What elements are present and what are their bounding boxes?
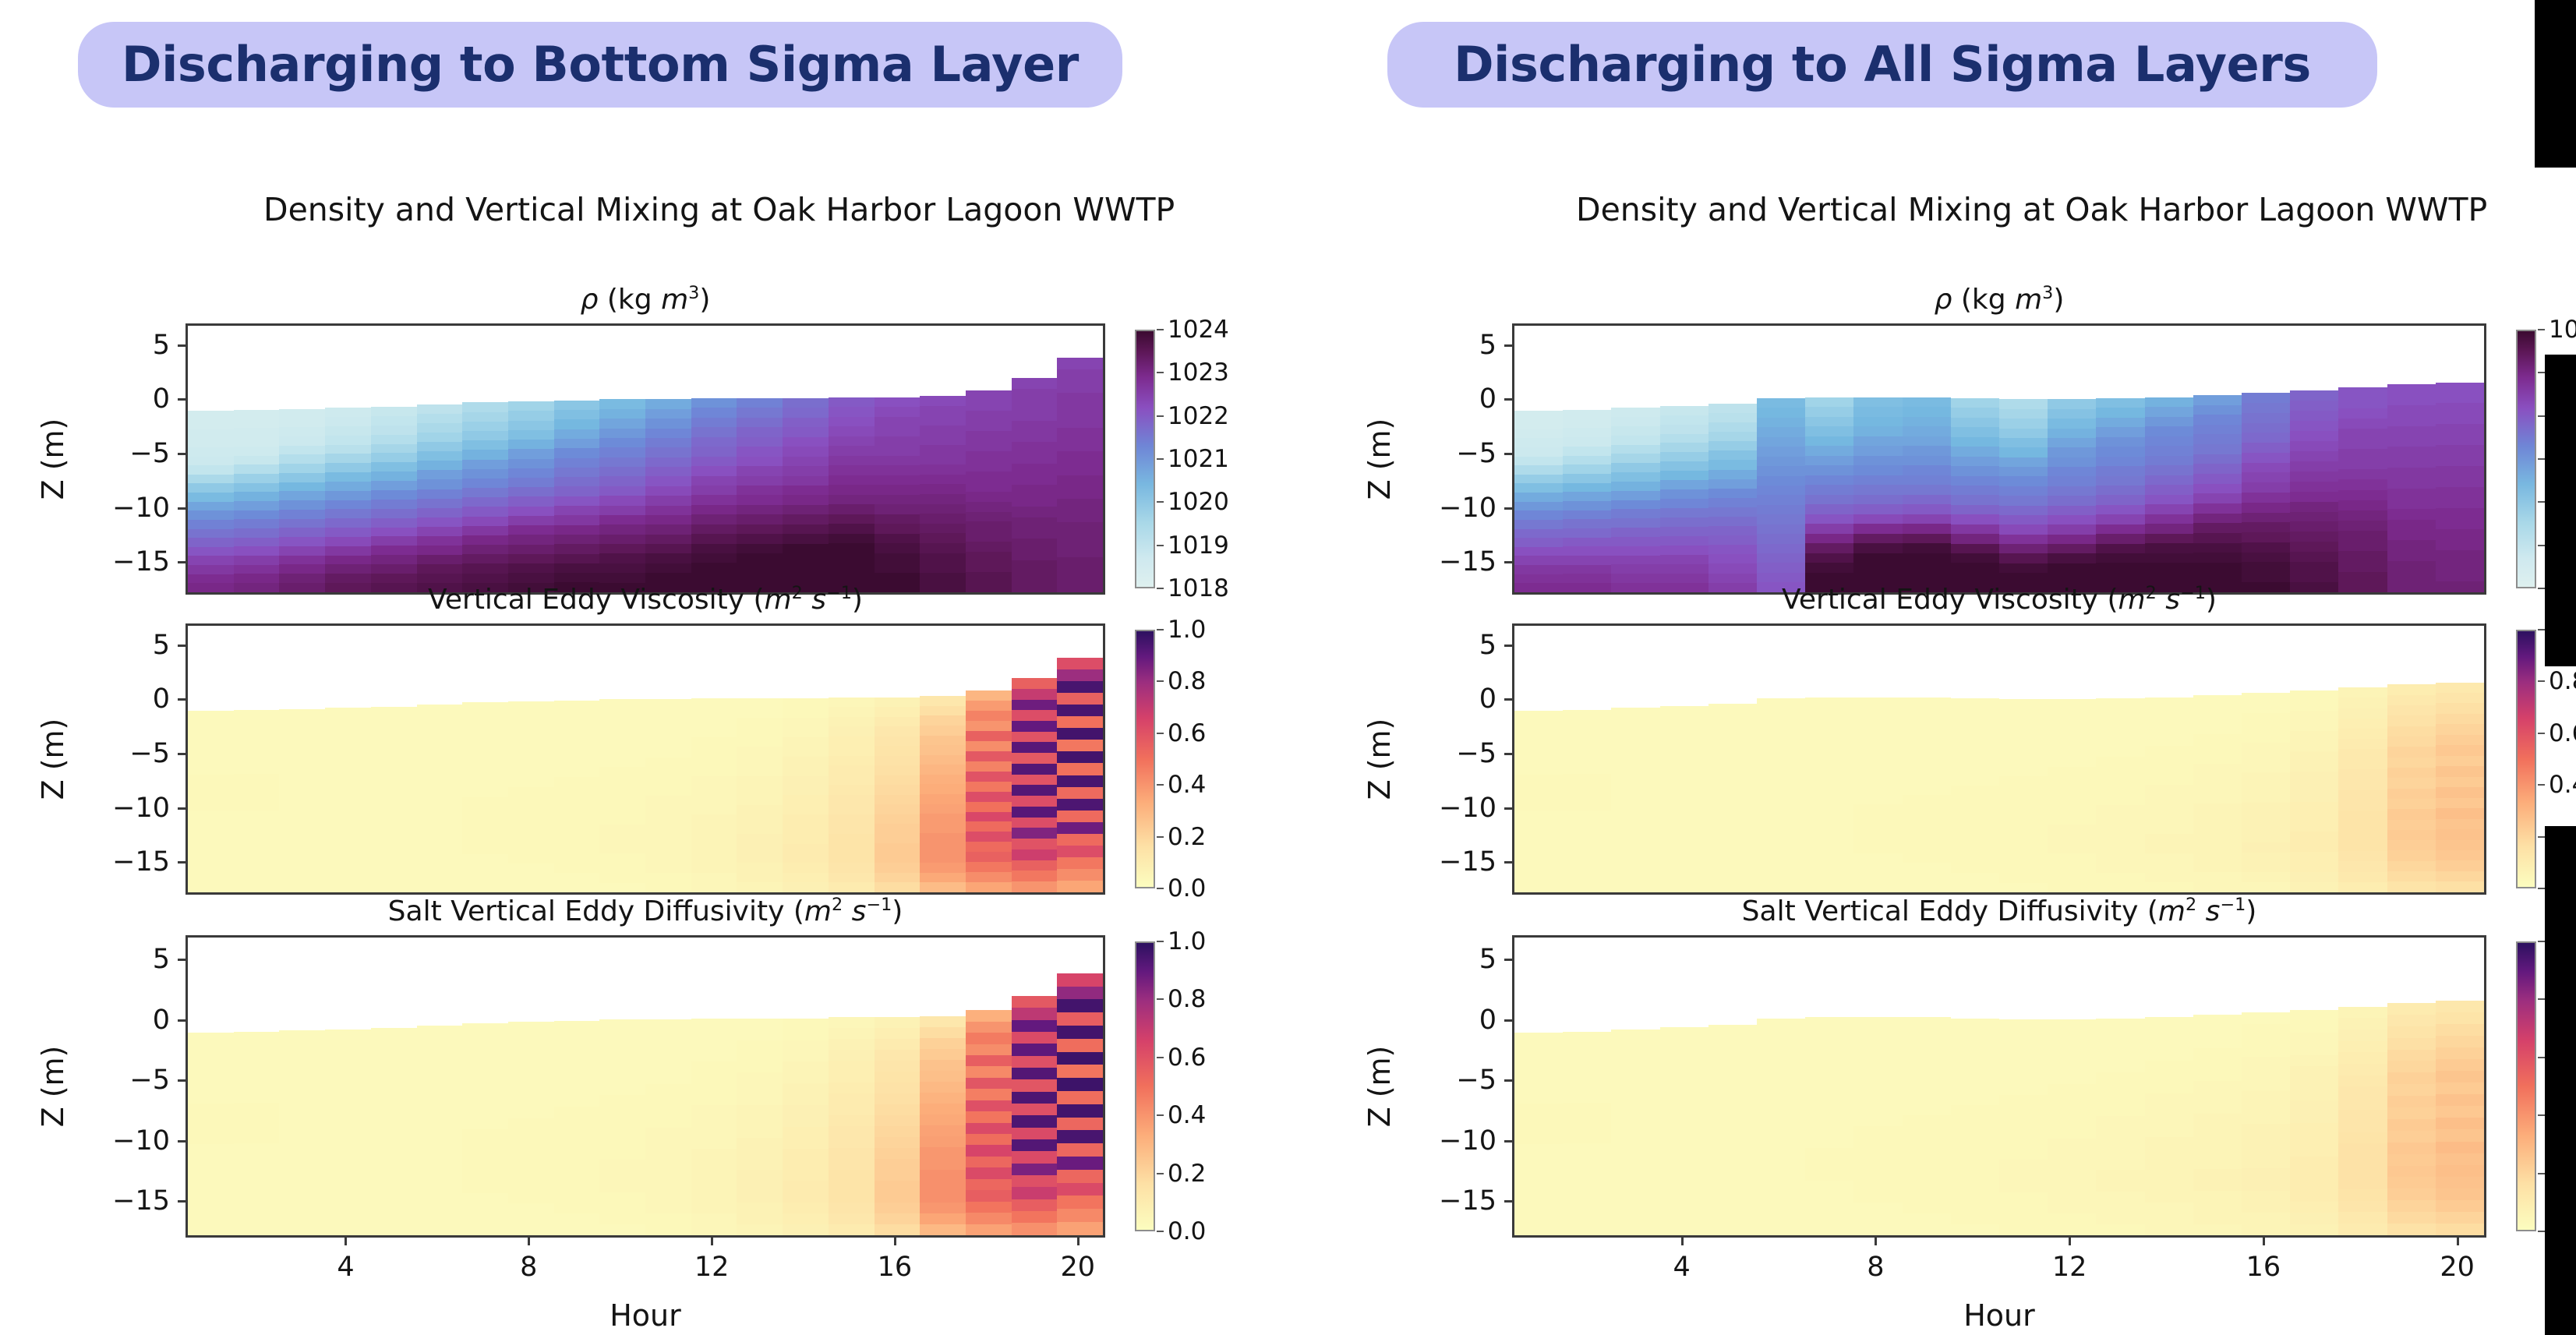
heatmap-cell [2290, 411, 2338, 421]
heatmap-cell [2145, 882, 2193, 892]
heatmap-cell [1660, 1193, 1708, 1203]
heatmap-cell [2436, 1188, 2484, 1200]
heatmap-cell [783, 1192, 829, 1203]
heatmap-cell [966, 1010, 1012, 1021]
heatmap-cell [462, 760, 508, 769]
heatmap-cell [2290, 731, 2338, 741]
heatmap-cell [1853, 1050, 1902, 1061]
heatmap-cell [875, 563, 921, 573]
heatmap-cell [2242, 793, 2290, 803]
heatmap-cell [371, 1069, 417, 1079]
heatmap-cell [188, 556, 234, 565]
heatmap-cell [2290, 492, 2338, 502]
heatmap-cell [1903, 853, 1951, 864]
heatmap-cell [1951, 718, 1999, 727]
heatmap-cell [829, 1224, 875, 1235]
heatmap-cell [2048, 486, 2096, 496]
heatmap-cell [188, 1144, 234, 1154]
heatmap-cell [1514, 574, 1563, 584]
heatmap-cell [1903, 1093, 1951, 1104]
heatmap-cell [554, 1075, 600, 1086]
heatmap-cell [1012, 378, 1058, 389]
heatmap-cell [599, 1192, 645, 1203]
heatmap-cell [1853, 707, 1902, 717]
heatmap-cell [1805, 1203, 1853, 1213]
heatmap-cell [508, 440, 554, 449]
heatmap-cell [279, 473, 325, 482]
heatmap-cell [325, 883, 371, 892]
heatmap-cell [1708, 526, 1757, 535]
heatmap-cell [737, 1127, 783, 1138]
heatmap-cell [966, 562, 1012, 572]
heatmap-column [2193, 626, 2242, 892]
heatmap-cell [920, 873, 966, 883]
heatmap-cell [462, 807, 508, 816]
heatmap-cell [1057, 510, 1103, 522]
heatmap-cell [1611, 408, 1659, 417]
heatmap-cell [462, 1161, 508, 1172]
y-tick-label: 5 [1395, 630, 1496, 661]
heatmap-column [2290, 626, 2338, 892]
heatmap-cell [371, 1059, 417, 1069]
heatmap-cell [1853, 446, 1902, 456]
heatmap-cell [2048, 835, 2096, 844]
heatmap-cell [2096, 1094, 2144, 1105]
heatmap-cell [2145, 824, 2193, 834]
heatmap-cell [737, 882, 783, 892]
y-tick-label: 0 [1395, 383, 1496, 415]
heatmap-cell [2096, 544, 2144, 553]
heatmap-cell [2436, 724, 2484, 734]
heatmap-cell [966, 772, 1012, 782]
colorbar-mixing [2516, 630, 2536, 888]
heatmap-cell [737, 1105, 783, 1116]
x-tick-mark [528, 1238, 530, 1245]
heatmap-cell [417, 423, 463, 433]
heatmap-cell [2048, 1019, 2096, 1030]
heatmap-cell [554, 825, 600, 835]
heatmap-cell [462, 1193, 508, 1204]
heatmap-cell [462, 1065, 508, 1076]
heatmap-cell [417, 1162, 463, 1172]
heatmap-cell [875, 717, 921, 727]
axes-salt_vertical_eddy_diffusivity [186, 935, 1105, 1238]
heatmap-cell [1514, 711, 1563, 720]
heatmap-cell [234, 1195, 280, 1205]
heatmap-cell [2338, 439, 2387, 449]
heatmap-cell [2338, 500, 2387, 510]
heatmap-cell [1012, 1068, 1058, 1079]
heatmap-cell [1999, 815, 2048, 825]
heatmap-cell [1514, 1073, 1563, 1083]
heatmap-cell [2290, 1179, 2338, 1190]
heatmap-cell [2096, 1072, 2144, 1083]
heatmap-cell [462, 1023, 508, 1034]
heatmap-cell [966, 782, 1012, 792]
heatmap-cell [737, 834, 783, 843]
heatmap-cell [1660, 818, 1708, 827]
heatmap-cell [1611, 772, 1659, 782]
heatmap-cell [691, 766, 737, 775]
heatmap-cell [462, 450, 508, 459]
heatmap-cell [1611, 708, 1659, 717]
heatmap-cell [875, 524, 921, 534]
heatmap-cell [783, 1030, 829, 1040]
heatmap-cell [1057, 775, 1103, 787]
heatmap-cell [234, 1032, 280, 1042]
heatmap-cell [1057, 1091, 1103, 1104]
y-tick-label: −5 [1395, 1065, 1496, 1096]
y-tick-label: −10 [1395, 1125, 1496, 1157]
heatmap-cell [783, 466, 829, 475]
heatmap-cell [188, 1114, 234, 1124]
heatmap-cell [1757, 757, 1805, 766]
heatmap-cell [1903, 534, 1951, 544]
heatmap-cell [1660, 527, 1708, 536]
heatmap-cell [2242, 542, 2290, 553]
heatmap-cell [2436, 550, 2484, 560]
heatmap-cell [1708, 854, 1757, 864]
heatmap-cell [2436, 1153, 2484, 1165]
heatmap-cell [508, 816, 554, 825]
heatmap-cell [599, 1224, 645, 1235]
heatmap-cell [2145, 726, 2193, 736]
heatmap-cell [1563, 819, 1611, 828]
heatmap-cell [2193, 814, 2242, 824]
heatmap-cell [1951, 1040, 1999, 1051]
heatmap-cell [1563, 1113, 1611, 1123]
heatmap-cell [1660, 1131, 1708, 1141]
heatmap-cell [2145, 1072, 2193, 1082]
heatmap-cell [2387, 1131, 2436, 1143]
panel-header-label: Discharging to Bottom Sigma Layer [122, 41, 1079, 89]
heatmap-cell [1057, 693, 1103, 705]
heatmap-cell [645, 699, 691, 708]
heatmap-cell [1903, 1082, 1951, 1093]
heatmap-cell [1951, 1072, 1999, 1083]
heatmap-cell [279, 1184, 325, 1194]
surface-blank [1514, 326, 1563, 411]
heatmap-cell [2096, 524, 2144, 534]
heatmap-cell [1999, 844, 2048, 853]
heatmap-cell [2048, 438, 2096, 447]
heatmap-cell [234, 1225, 280, 1235]
heatmap-cell [1563, 737, 1611, 747]
heatmap-cell [554, 815, 600, 825]
heatmap-cell [691, 1072, 737, 1083]
heatmap-cell [920, 794, 966, 804]
heatmap-cell [188, 720, 234, 729]
heatmap-cell [1514, 1225, 1563, 1235]
heatmap-cell [829, 814, 875, 825]
heatmap-column [1012, 326, 1058, 592]
y-tick-label: 0 [69, 383, 170, 415]
heatmap-cell [599, 853, 645, 863]
heatmap-cell [2338, 561, 2387, 571]
heatmap-cell [2290, 1022, 2338, 1033]
heatmap-cell [508, 1022, 554, 1033]
heatmap-column [188, 938, 234, 1235]
heatmap-cell [1853, 785, 1902, 795]
colorbar-tick-mark [1157, 1231, 1164, 1232]
heatmap-cell [371, 471, 417, 481]
surface-blank [188, 938, 234, 1033]
heatmap-cell [599, 1203, 645, 1214]
heatmap-cell [966, 1100, 1012, 1111]
heatmap-cell [599, 1149, 645, 1160]
heatmap-cell [234, 437, 280, 447]
heatmap-cell [2338, 790, 2387, 800]
heatmap-cell [371, 583, 417, 592]
heatmap-cell [783, 844, 829, 853]
colorbar-tick-mark [1157, 836, 1164, 838]
heatmap-cell [1563, 419, 1611, 429]
heatmap-cell [2338, 490, 2387, 500]
heatmap-cell [2242, 693, 2290, 703]
heatmap-cell [691, 466, 737, 475]
heatmap-cell [966, 731, 1012, 741]
heatmap-cell [234, 410, 280, 419]
heatmap-cell [371, 574, 417, 583]
heatmap-cell [829, 426, 875, 436]
heatmap-cell [462, 431, 508, 440]
heatmap-cell [1660, 789, 1708, 799]
heatmap-cell [2290, 1190, 2338, 1201]
heatmap-cell [1999, 719, 2048, 728]
heatmap-cell [1903, 426, 1951, 436]
heatmap-cell [829, 1192, 875, 1203]
heatmap-cell [875, 775, 921, 786]
heatmap-cell [1999, 1030, 2048, 1041]
heatmap-cell [554, 719, 600, 729]
heatmap-cell [1999, 515, 2048, 524]
heatmap-cell [508, 554, 554, 563]
heatmap-cell [829, 804, 875, 814]
heatmap-cell [1903, 397, 1951, 408]
heatmap-column [2096, 938, 2144, 1235]
heatmap-column [2145, 326, 2193, 592]
heatmap-cell [645, 835, 691, 844]
colorbar-tick-mark [2538, 1114, 2545, 1116]
heatmap-cell [1951, 825, 1999, 834]
heatmap-cell [1708, 554, 1757, 563]
heatmap-cell [875, 804, 921, 814]
heatmap-cell [1757, 766, 1805, 775]
heatmap-cell [1951, 1203, 1999, 1213]
heatmap-cell [2193, 1158, 2242, 1169]
heatmap-cell [1514, 1215, 1563, 1225]
heatmap-cell [966, 842, 1012, 852]
heatmap-cell [966, 872, 1012, 882]
heatmap-cell [2387, 1003, 2436, 1015]
heatmap-cell [462, 817, 508, 826]
heatmap-cell [1057, 811, 1103, 822]
heatmap-cell [920, 406, 966, 416]
colorbar-tick-mark [2538, 501, 2545, 503]
heatmap-cell [966, 401, 1012, 411]
heatmap-cell [645, 1160, 691, 1171]
heatmap-cell [188, 438, 234, 447]
heatmap-cell [691, 795, 737, 804]
heatmap-cell [1903, 407, 1951, 417]
heatmap-cell [1708, 817, 1757, 826]
colorbar-tick-mark [2538, 372, 2545, 373]
heatmap-cell [2290, 441, 2338, 451]
surface-blank [1057, 626, 1103, 658]
heatmap-cell [188, 493, 234, 502]
heatmap-cell [2387, 1061, 2436, 1072]
heatmap-cell [325, 1030, 371, 1040]
heatmap-cell [1660, 415, 1708, 425]
heatmap-cell [829, 1159, 875, 1170]
heatmap-cell [2436, 808, 2484, 818]
heatmap-cell [279, 436, 325, 446]
heatmap-cell [1757, 1170, 1805, 1181]
heatmap-cell [1853, 717, 1902, 727]
heatmap-cell [371, 828, 417, 837]
heatmap-cell [2436, 1047, 2484, 1059]
heatmap-cell [920, 1192, 966, 1203]
heatmap-cell [875, 873, 921, 883]
heatmap-cell [2290, 572, 2338, 582]
heatmap-cell [691, 873, 737, 882]
heatmap-cell [1514, 457, 1563, 466]
heatmap-cell [1611, 791, 1659, 800]
colorbar-tick-mark [2538, 784, 2545, 786]
heatmap-cell [188, 447, 234, 457]
heatmap-cell [1514, 1083, 1563, 1093]
heatmap-cell [920, 843, 966, 853]
heatmap-cell [2096, 1203, 2144, 1213]
heatmap-cell [691, 1083, 737, 1094]
heatmap-cell [371, 1142, 417, 1152]
heatmap-cell [1757, 1094, 1805, 1105]
heatmap-cell [2436, 581, 2484, 592]
heatmap-cell [234, 756, 280, 765]
heatmap-cell [1611, 518, 1659, 528]
heatmap-cell [2338, 1098, 2387, 1110]
heatmap-cell [2145, 1039, 2193, 1050]
heatmap-cell [645, 486, 691, 496]
heatmap-cell [462, 563, 508, 573]
heatmap-cell [2048, 429, 2096, 438]
clipped-edge-middle [2545, 355, 2576, 666]
heatmap-cell [279, 883, 325, 892]
colorbar-density [2516, 330, 2536, 588]
heatmap-cell [783, 786, 829, 795]
heatmap-cell [1805, 446, 1853, 456]
heatmap-cell [2242, 872, 2290, 882]
heatmap-cell [875, 726, 921, 736]
heatmap-cell [1757, 1224, 1805, 1235]
heatmap-cell [1903, 436, 1951, 447]
heatmap-cell [2436, 1024, 2484, 1036]
heatmap-cell [1563, 437, 1611, 447]
heatmap-cell [2387, 871, 2436, 881]
heatmap-cell [2096, 1138, 2144, 1149]
y-tick-mark [1504, 959, 1512, 961]
heatmap-cell [2290, 1078, 2338, 1089]
heatmap-cell [1853, 1115, 1902, 1126]
heatmap-cell [2145, 475, 2193, 486]
heatmap-cell [234, 1164, 280, 1174]
heatmap-cell [2048, 1117, 2096, 1128]
heatmap-cell [875, 446, 921, 456]
heatmap-cell [2193, 1081, 2242, 1092]
heatmap-cell [2193, 572, 2242, 582]
surface-blank [737, 938, 783, 1019]
heatmap-cell [1012, 389, 1058, 400]
heatmap-cell [966, 411, 1012, 421]
heatmap-cell [1563, 710, 1611, 719]
heatmap-cell [737, 1094, 783, 1105]
colorbar-tick-mark [1157, 941, 1164, 942]
y-tick-label: 5 [1395, 330, 1496, 361]
heatmap-cell [783, 1051, 829, 1062]
heatmap-cell [554, 1032, 600, 1043]
heatmap-column [691, 626, 737, 892]
heatmap-cell [2242, 472, 2290, 482]
heatmap-cell [2145, 1203, 2193, 1213]
heatmap-cell [2338, 749, 2387, 759]
heatmap-cell [325, 1040, 371, 1050]
heatmap-cell [508, 1128, 554, 1139]
heatmap-cell [599, 806, 645, 815]
heatmap-cell [737, 418, 783, 427]
heatmap-cell [783, 766, 829, 775]
heatmap-cell [737, 1051, 783, 1062]
heatmap-cell [462, 488, 508, 497]
heatmap-column [1057, 626, 1103, 892]
heatmap-cell [737, 1149, 783, 1160]
heatmap-cell [1999, 419, 2048, 428]
heatmap-cell [783, 495, 829, 504]
heatmap-cell [737, 466, 783, 475]
heatmap-column [1951, 938, 1999, 1235]
y-tick-mark [178, 1140, 186, 1143]
colorbar-tick-mark [2538, 733, 2545, 734]
heatmap-cell [325, 708, 371, 717]
heatmap-cell [1903, 1028, 1951, 1039]
heatmap-column [1805, 326, 1853, 592]
heatmap-cell [2048, 515, 2096, 524]
heatmap-cell [1057, 740, 1103, 751]
heatmap-cell [2436, 881, 2484, 892]
heatmap-cell [371, 1183, 417, 1193]
heatmap-cell [875, 736, 921, 747]
heatmap-cell [737, 1192, 783, 1203]
heatmap-cell [920, 455, 966, 465]
heatmap-column [2048, 626, 2096, 892]
heatmap-cell [1563, 719, 1611, 729]
heatmap-cell [2338, 582, 2387, 592]
heatmap-cell [1611, 556, 1659, 565]
surface-blank [1012, 626, 1058, 678]
heatmap-cell [462, 422, 508, 431]
heatmap-cell [1853, 456, 1902, 466]
heatmap-cell [1012, 732, 1058, 743]
heatmap-cell [1805, 1115, 1853, 1126]
heatmap-cell [875, 882, 921, 892]
heatmap-cell [920, 804, 966, 814]
heatmap-cell [462, 535, 508, 545]
heatmap-cell [1563, 828, 1611, 838]
heatmap-cell [554, 554, 600, 563]
heatmap-cell [875, 1159, 921, 1170]
heatmap-cell [188, 729, 234, 739]
heatmap-mesh [188, 626, 1103, 892]
heatmap-cell [599, 844, 645, 853]
